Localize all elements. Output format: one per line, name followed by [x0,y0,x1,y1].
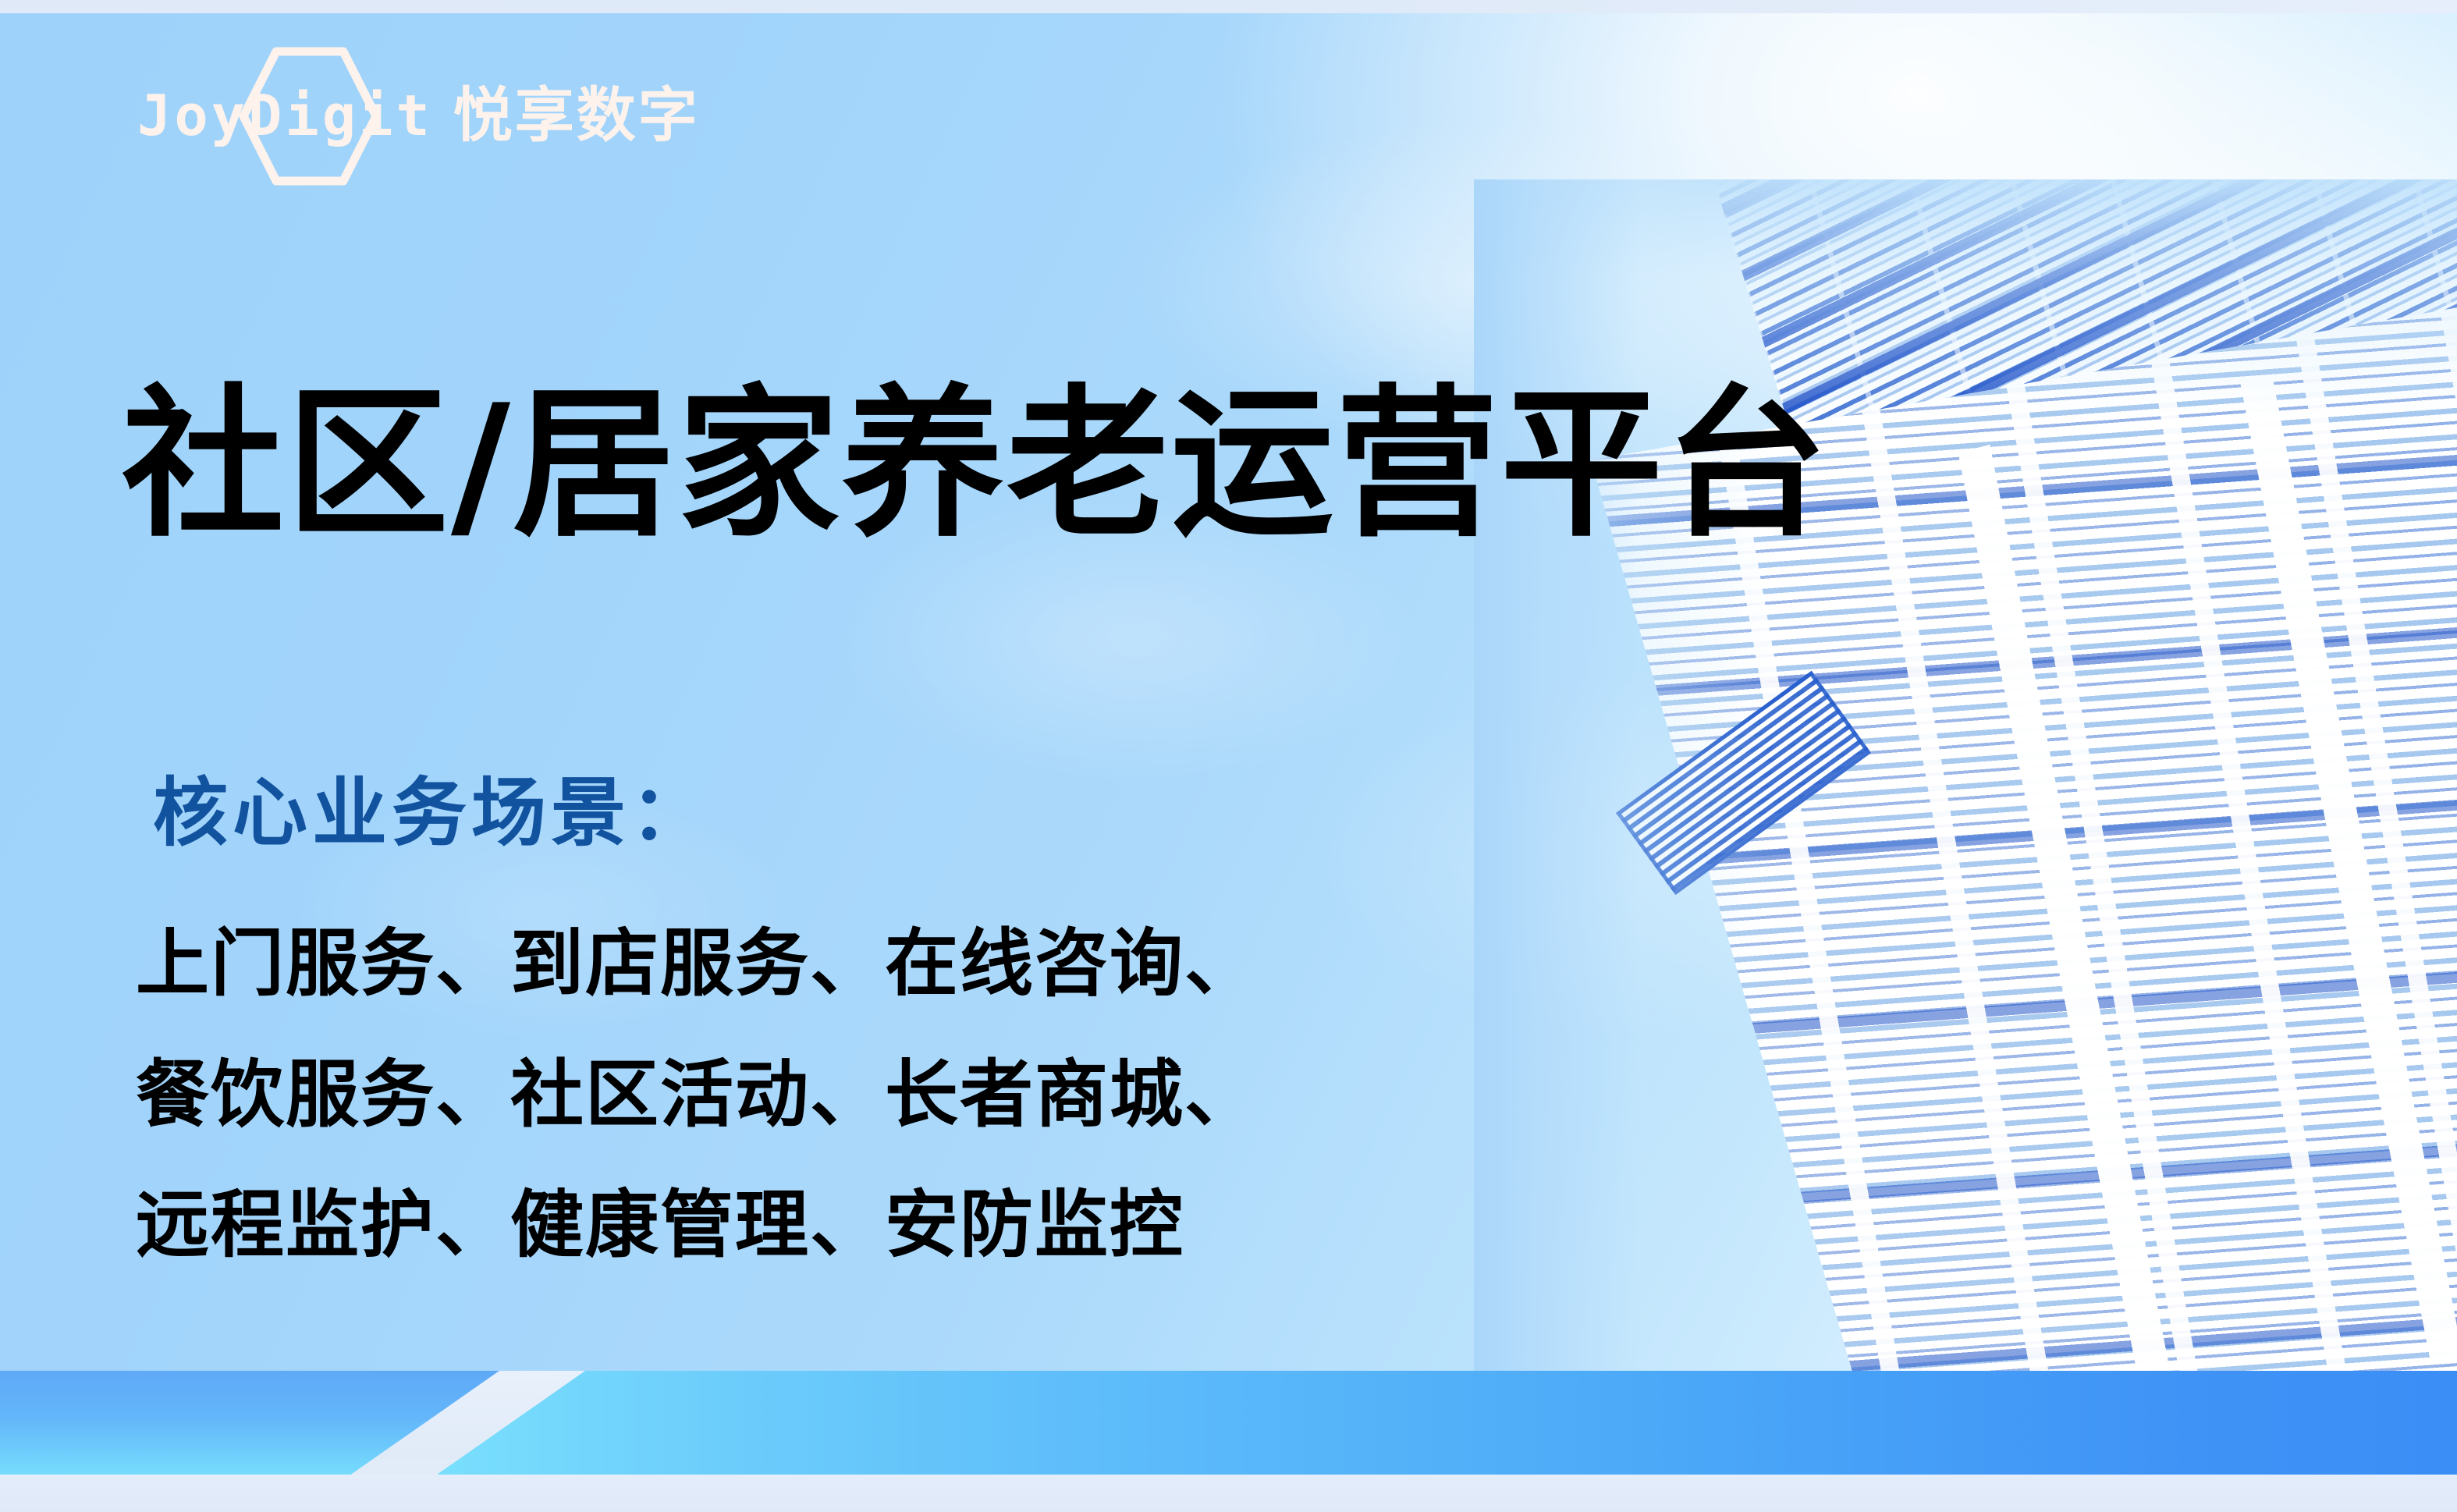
scenario-line-1: 上门服务、到店服务、在线咨询、 [136,899,1259,1029]
logo-wordmark: JoyDigit [137,87,433,144]
logo-chinese-name: 悦享数字 [453,86,700,145]
footer-decorative-band [0,1371,2457,1512]
page-title: 社区/居家养老运营平台 [122,378,1830,553]
slide-root: JoyDigit 悦享数字 社区/居家养老运营平台 核心业务场景： 上门服务、到… [0,0,2457,1512]
scenario-line-3: 远程监护、健康管理、安防监控 [136,1160,1259,1290]
band-base-strip [0,1475,2457,1512]
band-left-shape [0,1371,499,1475]
band-right-shape [437,1371,2457,1475]
brand-logo: JoyDigit 悦享数字 [137,69,700,162]
skyscraper-photo [1474,179,2457,1373]
scenario-line-2: 餐饮服务、社区活动、长者商城、 [136,1030,1259,1160]
core-scenarios-heading: 核心业务场景： [153,768,1259,858]
core-scenarios-block: 核心业务场景： 上门服务、到店服务、在线咨询、 餐饮服务、社区活动、长者商城、 … [153,768,1259,1290]
top-strip [0,0,2457,13]
logo-mark: JoyDigit [137,69,433,162]
